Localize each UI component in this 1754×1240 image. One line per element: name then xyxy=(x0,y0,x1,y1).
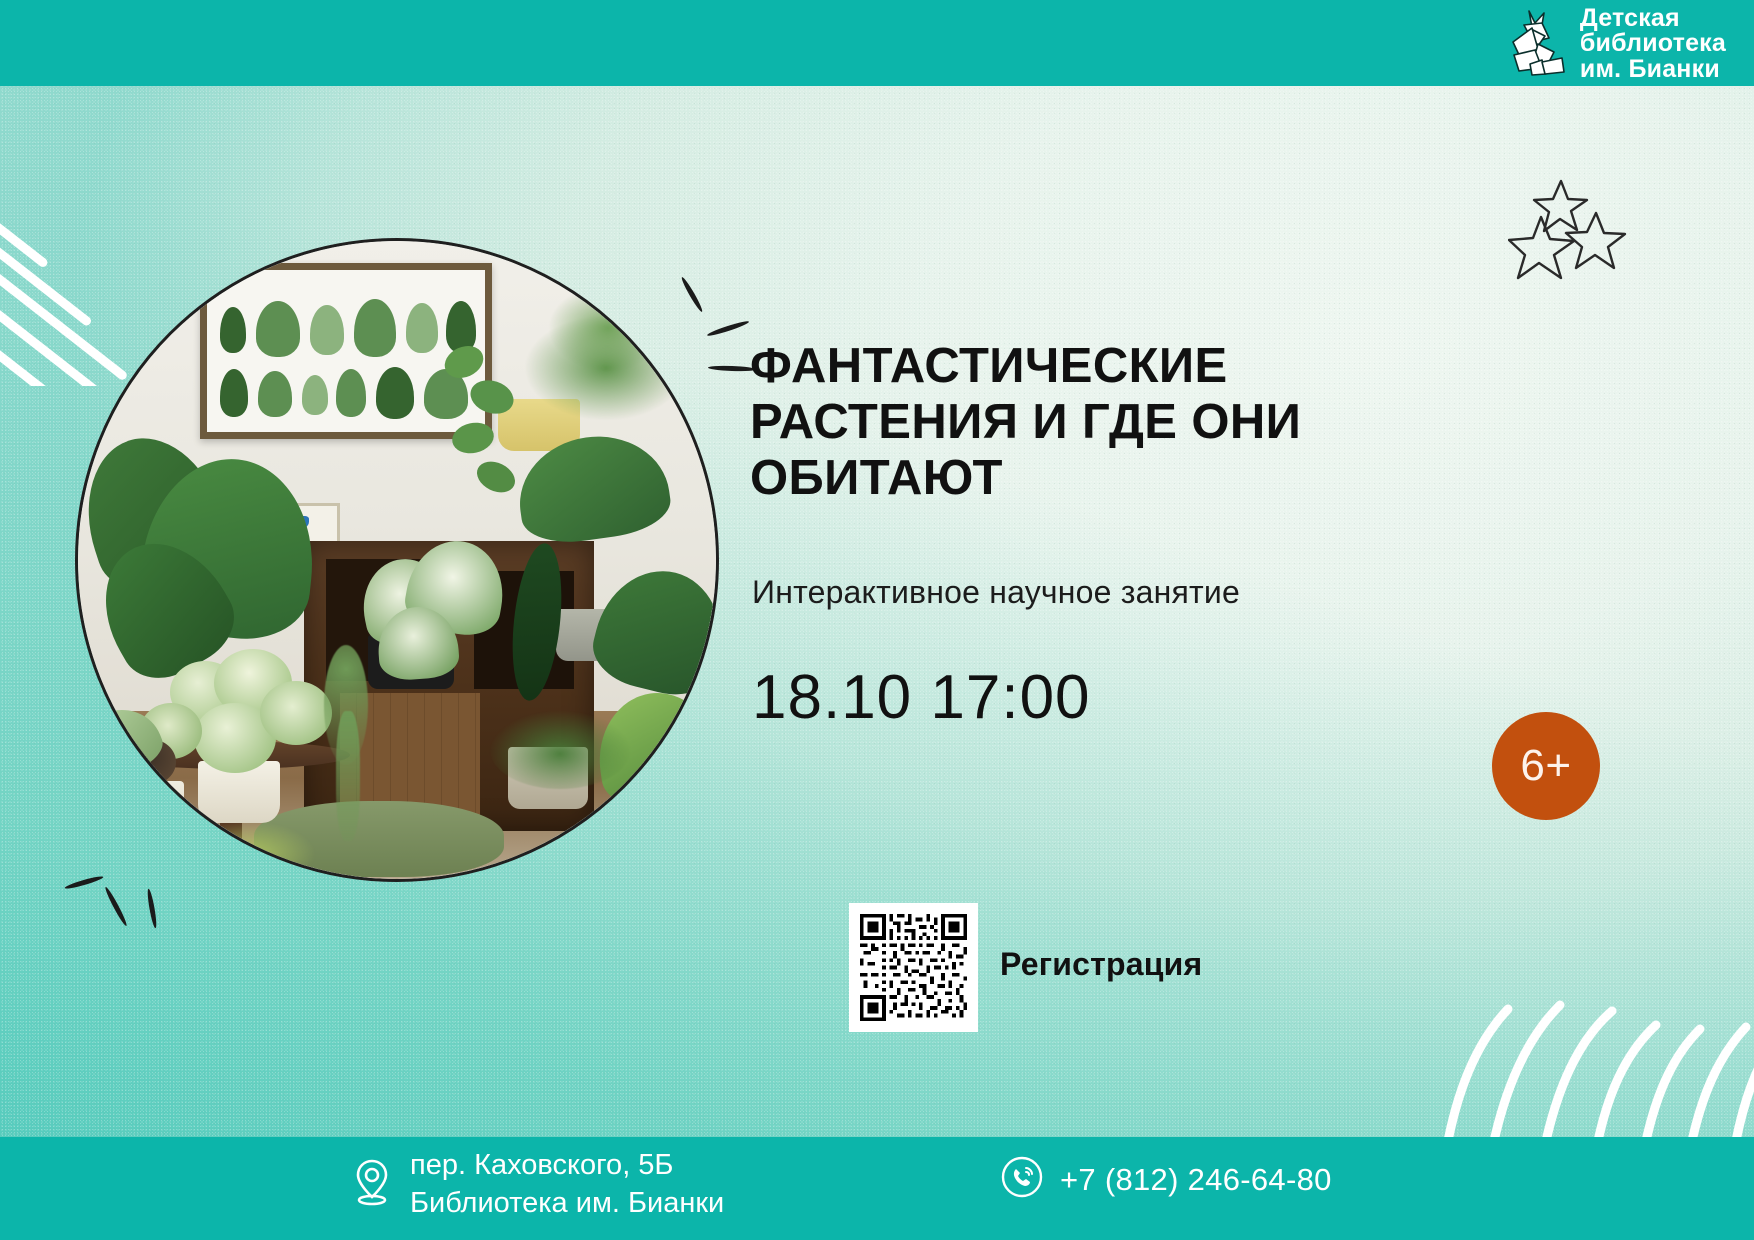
library-logo-text: Детская библиотека им. Бианки xyxy=(1580,6,1726,83)
stars-decoration xyxy=(1508,175,1638,280)
footer-address-text: пер. Каховского, 5Б Библиотека им. Бианк… xyxy=(410,1146,724,1222)
footer-address: пер. Каховского, 5Б Библиотека им. Бианк… xyxy=(352,1146,724,1222)
registration-label: Регистрация xyxy=(1000,946,1202,983)
event-poster: Детская библиотека им. Бианки ФАНТАСТИЧЕ… xyxy=(0,0,1754,1240)
registration-qr-code[interactable] xyxy=(849,903,978,1032)
location-pin-icon xyxy=(352,1157,392,1212)
curved-stripes-decoration xyxy=(1424,907,1754,1137)
event-subtitle: Интерактивное научное занятие xyxy=(752,572,1512,612)
event-photo-circle xyxy=(75,238,719,882)
qr-code-icon xyxy=(860,914,967,1021)
footer-phone-text: +7 (812) 246-64-80 xyxy=(1060,1162,1332,1198)
origami-fox-library-logo-icon xyxy=(1502,8,1568,80)
page-title: ФАНТАСТИЧЕСКИЕ РАСТЕНИЯ И ГДЕ ОНИ ОБИТАЮ… xyxy=(750,338,1470,506)
bottom-teal-bar xyxy=(0,1137,1754,1240)
top-teal-bar xyxy=(0,0,1754,86)
ink-dashes-bottom-left xyxy=(62,862,177,977)
age-rating-badge: 6+ xyxy=(1492,712,1600,820)
library-logo: Детская библиотека им. Бианки xyxy=(1502,4,1726,84)
phone-icon xyxy=(1000,1155,1044,1204)
plant-room-photo xyxy=(78,241,716,879)
event-datetime: 18.10 17:00 xyxy=(752,660,1091,736)
footer-phone: +7 (812) 246-64-80 xyxy=(1000,1155,1332,1204)
